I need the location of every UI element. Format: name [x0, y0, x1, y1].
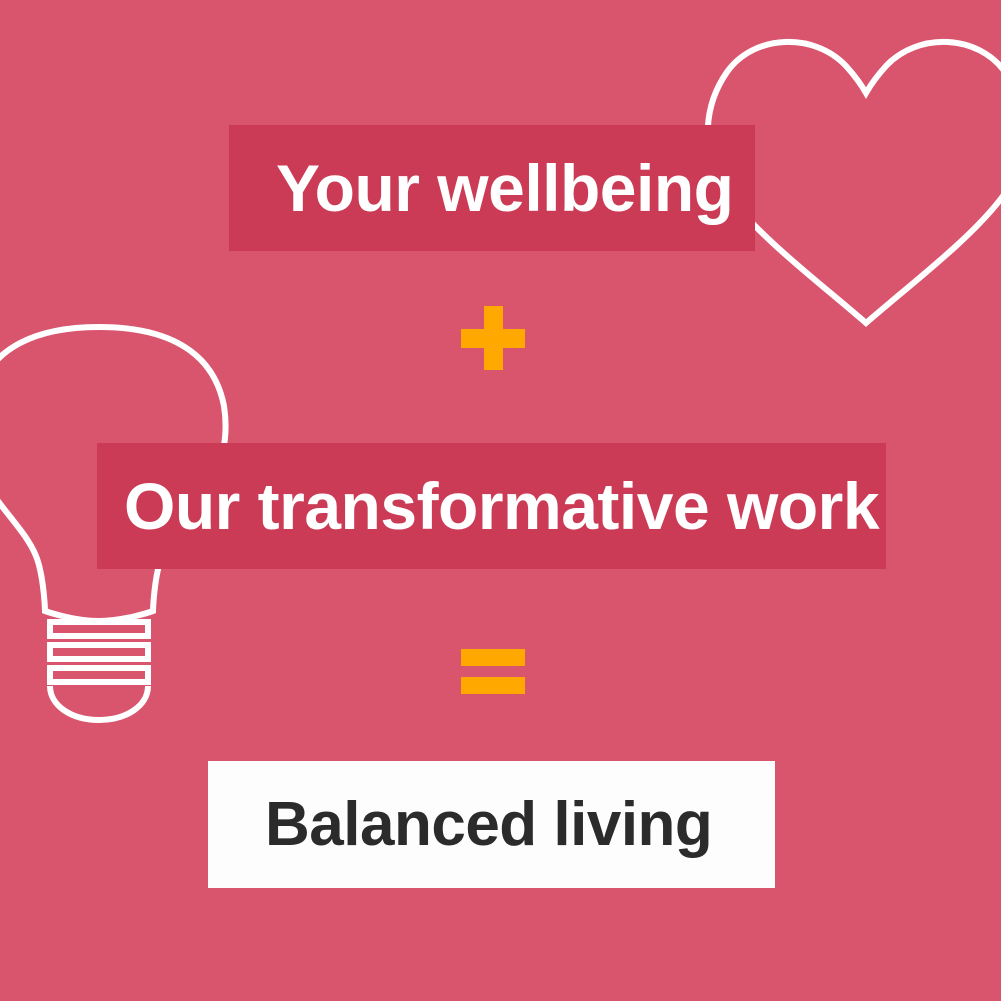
equals-sign-icon — [461, 649, 525, 694]
term-your-wellbeing: Your wellbeing — [229, 125, 755, 251]
poster-canvas: Your wellbeing Our transformative work B… — [0, 0, 1001, 1001]
plus-vertical-bar — [484, 306, 503, 370]
term-balanced-living-label: Balanced living — [265, 794, 712, 856]
equals-lower-bar — [461, 677, 525, 694]
term-balanced-living: Balanced living — [208, 761, 775, 888]
plus-sign-icon — [461, 306, 525, 370]
term-our-transformative-work: Our transformative work — [97, 443, 886, 569]
term-our-transformative-work-label: Our transformative work — [124, 473, 879, 539]
term-your-wellbeing-label: Your wellbeing — [276, 155, 733, 221]
equals-upper-bar — [461, 649, 525, 666]
